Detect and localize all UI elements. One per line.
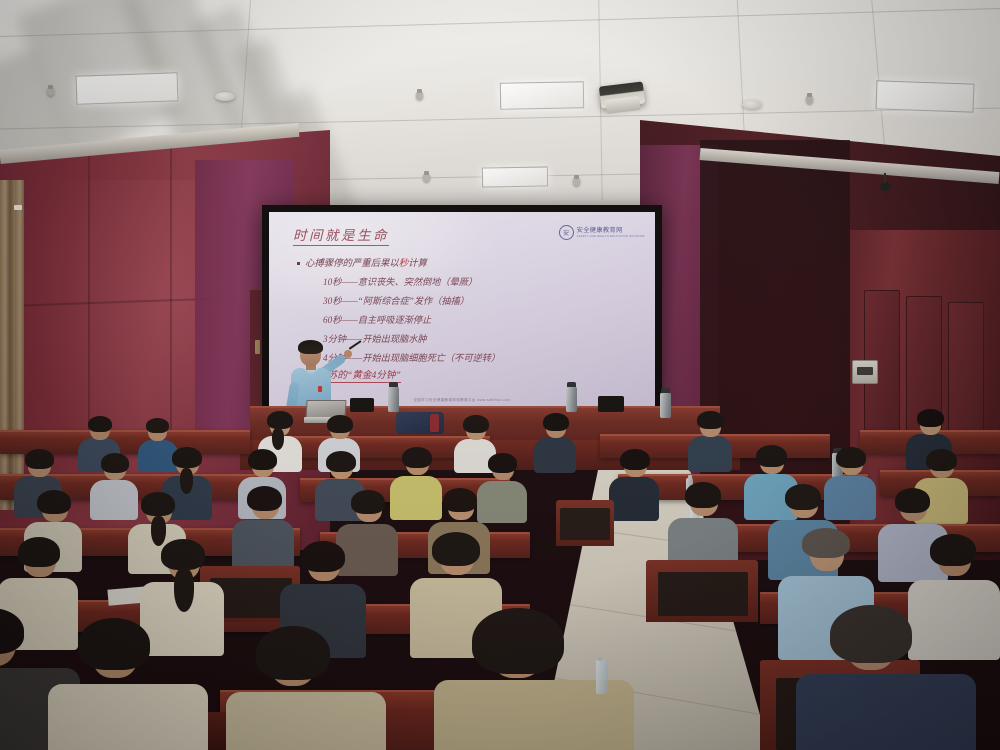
presenter-badge <box>318 386 322 392</box>
slide-bullet-main: 心搏骤停的严重后果以秒计算 <box>297 255 427 269</box>
ceiling-light-panel <box>482 166 548 187</box>
chair-seat <box>560 508 610 540</box>
ceiling-light-panel <box>500 81 584 109</box>
wall-control-panel[interactable] <box>852 360 878 384</box>
logo-subtitle: SAFETY AND HEALTH EDUCATION NETWORK <box>577 234 645 238</box>
logo-name: 安全健康教育网 <box>577 227 645 234</box>
ceiling-light-panel <box>76 72 179 105</box>
sprinkler-icon <box>806 96 813 104</box>
projector-lens <box>605 96 640 114</box>
logo-mark-icon: 安 <box>559 225 574 240</box>
window-curtain <box>0 180 24 510</box>
door-panel-detail <box>948 302 984 450</box>
thermos <box>388 386 399 412</box>
slide-line: 60秒——自主呼吸逐渐停止 <box>323 312 431 326</box>
lecture-hall-photo: 时间就是生命 安 安全健康教育网 SAFETY AND HEALTH EDUCA… <box>0 0 1000 750</box>
equipment-box <box>598 396 624 412</box>
bullet-emphasis: 秒 <box>399 259 408 269</box>
thermos <box>660 392 671 418</box>
presenter-hair <box>298 340 323 354</box>
equipment-box <box>350 398 374 412</box>
slide-line: 3分钟——开始出现脑水肿 <box>323 331 427 345</box>
water-bottle <box>596 660 608 694</box>
presenter-hand <box>344 350 352 358</box>
sprinkler-icon <box>416 92 423 100</box>
slide-title: 时间就是生命 <box>293 224 389 246</box>
left-wall-downlight <box>14 205 22 210</box>
smoke-detector-icon <box>215 92 235 101</box>
slide-logo: 安 安全健康教育网 SAFETY AND HEALTH EDUCATION NE… <box>559 225 645 240</box>
thermos <box>566 386 577 412</box>
chair-seat <box>658 572 748 616</box>
security-camera-icon <box>880 182 891 191</box>
sprinkler-icon <box>573 178 580 186</box>
door-handle-icon[interactable] <box>255 340 260 354</box>
slide-line: 10秒——意识丧失、突然倒地（晕厥） <box>323 274 477 288</box>
bullet-suffix: 计算 <box>408 259 427 269</box>
bullet-point-icon <box>297 262 300 265</box>
bullet-prefix: 心搏骤停的严重后果以 <box>305 259 399 269</box>
ceiling-light-panel <box>876 80 975 112</box>
sprinkler-icon <box>423 174 430 182</box>
jacket-red-stripe <box>430 414 439 432</box>
slide-line: 30秒——“阿斯综合症”发作（抽搐） <box>323 293 469 307</box>
sprinkler-icon <box>47 88 54 96</box>
smoke-detector-icon <box>742 100 762 109</box>
